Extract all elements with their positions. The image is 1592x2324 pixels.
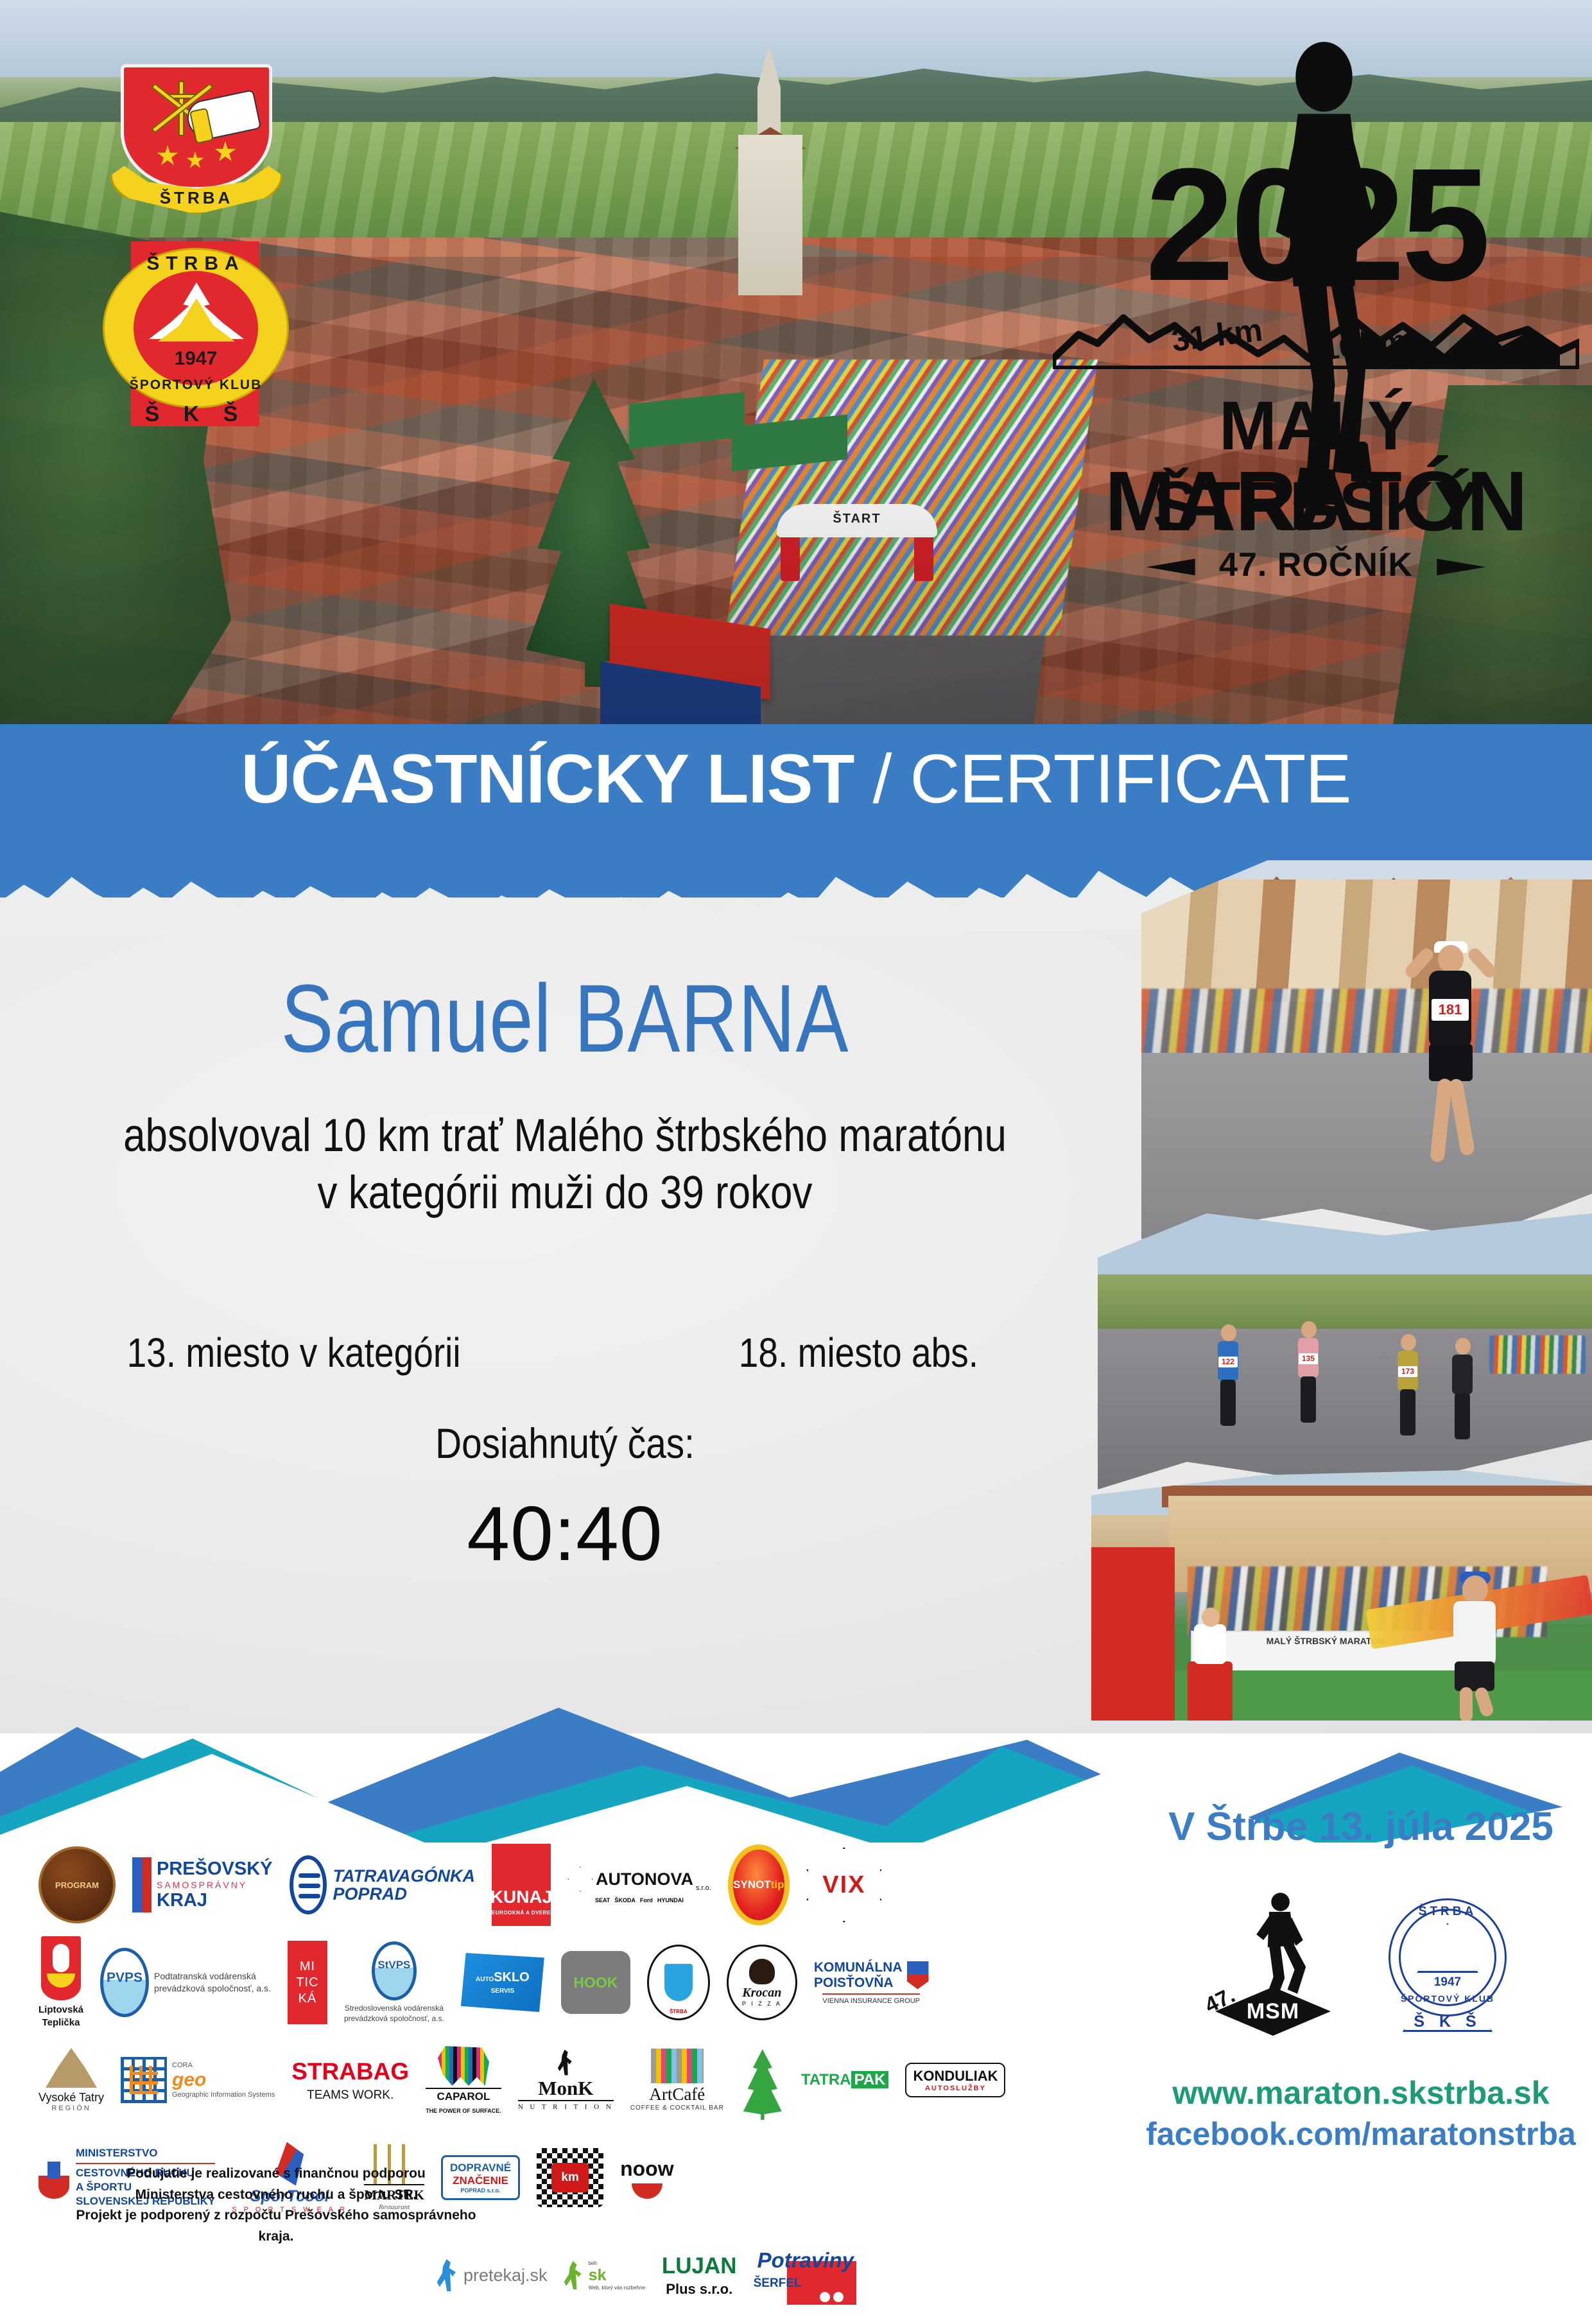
sponsor-row-3: Vysoké Tatry REGIÓN CORAgeo Geographic I… <box>39 2031 1130 2129</box>
sponsor-pd-strba[interactable]: ŠTRBA <box>647 1941 710 2024</box>
sponsor-sublabel: THE POWER OF SURFACE. <box>426 2108 501 2114</box>
sponsor-lujan-plus[interactable]: LUJAN Plus s.r.o. <box>662 2233 737 2317</box>
sponsor-sublabel: SERVIS <box>491 1988 515 1995</box>
event-edition: 47. ROČNÍK <box>1219 546 1413 584</box>
sponsor-kunaj[interactable]: KUNAJ EUROOKNÁ A DVERE <box>492 1843 551 1927</box>
photo-finisher-celebrating: 181 <box>1141 860 1592 1239</box>
sponsor-accent: SKLO <box>494 1970 530 1984</box>
stamp-abbrev: Š K Š <box>1377 2013 1518 2031</box>
stamp-year: 1947 <box>1377 1975 1518 1990</box>
sponsor-sublabel: N U T R I T I O N <box>518 2100 614 2111</box>
time-label: Dosiahnutý čas: <box>79 1419 1051 1468</box>
stamp-top: ŠTRBA <box>1377 1905 1518 1919</box>
sponsor-label: noow <box>620 2157 674 2180</box>
sponsor-label: KONDULIAK <box>913 2068 998 2084</box>
sponsor-liptovska-teplicka[interactable]: Liptovská Teplička <box>39 1941 83 2024</box>
sponsor-label: SYNOT <box>733 1878 771 1891</box>
participant-name: Samuel BARNA <box>101 963 1028 1074</box>
grid-icon <box>121 2057 167 2103</box>
logo-mark: PVPS <box>100 1948 149 2017</box>
bib-number: 181 <box>1432 999 1469 1021</box>
footer-right-column: V Štrbe 13. júla 2025 47. MSM ŠTRBA 194 <box>1136 1804 1586 2153</box>
sponsor-label: PVPS <box>107 1970 143 1986</box>
turkey-icon <box>749 1959 775 1984</box>
sponsor-sublabel: Stredoslovenská vodárenská <box>344 2004 444 2014</box>
sponsor-label: TIC <box>296 1975 318 1991</box>
time-value: 40:40 <box>0 1489 1130 1578</box>
flag-icon <box>907 1961 929 1990</box>
sponsor-label: KOMUNÁLNA <box>814 1960 903 1975</box>
sponsor-sublabel: REGIÓN <box>51 2104 91 2112</box>
stamp-bottom: ŠPORTOVÝ KLUB <box>1377 1993 1518 2004</box>
support-line-3: Projekt je podporený z rozpočtu Prešovsk… <box>58 2205 494 2247</box>
sponsor-sublabel: Geographic Information Systems <box>172 2091 275 2099</box>
sponsor-label: pretekaj.sk <box>463 2266 548 2285</box>
strba-municipal-crest: ŠTRBA <box>110 64 282 225</box>
peak-icon <box>46 2048 97 2088</box>
sponsor-sublabel: AUTOSLUŽBY <box>913 2085 998 2092</box>
facebook-link[interactable]: facebook.com/maratonstrba <box>1136 2115 1586 2153</box>
sponsor-sublabel: prevádzková spoločnosť, a.s. <box>344 2014 444 2024</box>
brand-label: SEAT <box>595 1897 610 1903</box>
sponsor-monk[interactable]: MonK N U T R I T I O N <box>518 2038 614 2122</box>
sponsor-noow[interactable]: noow <box>620 2136 674 2219</box>
sponsor-sublabel: Plus s.r.o. <box>662 2281 737 2298</box>
sponsor-pvps[interactable]: PVPS Podtatranská vodárenská prevádzková… <box>100 1941 271 2024</box>
sponsor-label: STRABAG <box>291 2058 409 2085</box>
sks-club-logo: ŠTRBA 1947 ŠPORTOVÝ KLUB Š K Š <box>103 238 289 430</box>
sponsor-accent: geo <box>172 2069 206 2090</box>
sponsor-label: MI <box>300 1959 315 1975</box>
brand-label: Ford <box>640 1897 653 1903</box>
brand-label: ŠKODA <box>614 1897 636 1903</box>
runner-icon <box>437 2259 458 2291</box>
description-line-1: absolvoval 10 km trať Malého štrbského m… <box>79 1107 1051 1165</box>
support-line-1: Podujatie je realizované s finančnou pod… <box>58 2164 494 2185</box>
website-link[interactable]: www.maraton.skstrba.sk <box>1136 2074 1586 2112</box>
sponsor-label: StVPS <box>377 1959 410 1972</box>
sponsor-sublabel: Podtatranská vodárenská <box>154 1970 271 1982</box>
club-logo-bottom: ŠPORTOVÝ KLUB <box>103 377 289 393</box>
sponsor-label: PREŠOVSKÝ <box>157 1859 273 1880</box>
sponsor-sublabel: VIENNA INSURANCE GROUP <box>822 1993 920 2005</box>
bib-number: 122 <box>1218 1357 1238 1367</box>
sponsor-label: KUNAJ <box>490 1887 552 1907</box>
sponsor-sublabel: POPRAD <box>333 1885 475 1903</box>
sponsor-accent: tip <box>771 1878 784 1891</box>
logo-mark: StVPS <box>372 1941 417 2000</box>
sponsor-stvps[interactable]: StVPS Stredoslovenská vodárenská prevádz… <box>344 1941 444 2024</box>
sponsor-accent: sk <box>589 2266 607 2284</box>
msm-badge: 47. MSM <box>1204 1891 1338 2038</box>
mountain-range-icon <box>1053 292 1579 369</box>
sponsor-sublabel: EUROOKNÁ A DVERE <box>492 1910 551 1916</box>
sponsor-label: VIX <box>822 1871 865 1899</box>
sponsor-sublabel: TEAMS WORK. <box>291 2088 409 2103</box>
place-absolute: 18. miesto abs. <box>625 1329 1092 1376</box>
place-category: 13. miesto v kategórii <box>41 1329 546 1376</box>
club-logo-year: 1947 <box>103 348 289 370</box>
certificate-block: Samuel BARNA absolvoval 10 km trať Maléh… <box>0 963 1130 1222</box>
sponsor-corageo[interactable]: CORAgeo Geographic Information Systems <box>121 2038 275 2122</box>
sponsor-artcafe[interactable]: ArtCafé COFFEE & COCKTAIL BAR <box>630 2038 724 2122</box>
sponsor-label: Teplička <box>42 2017 80 2028</box>
sponsor-label: beh <box>589 2260 645 2266</box>
sponsor-autosklo[interactable]: AUTOSKLO SERVIS <box>461 1941 544 2024</box>
msm-abbrev: MSM <box>1247 1999 1299 2024</box>
sponsor-sublabel: SAMOSPRÁVNY <box>157 1880 273 1890</box>
sponsor-konduliak[interactable]: KONDULIAK AUTOSLUŽBY <box>905 2038 1005 2122</box>
sponsor-label: HOOK <box>573 1974 618 1991</box>
brand-label: HYUNDAI <box>657 1897 684 1903</box>
bib-number: 173 <box>1398 1366 1417 1377</box>
sponsor-caparol[interactable]: CAPAROL THE POWER OF SURFACE. <box>426 2038 501 2122</box>
sponsor-label: MonK <box>538 2077 593 2099</box>
description-line-2: v kategórii muži do 39 rokov <box>79 1165 1051 1222</box>
sponsor-synottip[interactable]: SYNOTtip <box>728 1843 790 1927</box>
sponsor-label: TATRAVAGÓNKA <box>333 1867 475 1885</box>
logo-mark <box>290 1855 327 1914</box>
photo-runners-on-course: 122 135 173 <box>1098 1213 1592 1489</box>
sponsor-vix[interactable]: VIX <box>806 1843 882 1927</box>
sponsor-label: CORA <box>172 2061 275 2069</box>
sponsor-label: Liptovská <box>39 2004 83 2015</box>
sponsor-label: LUJAN <box>662 2253 737 2278</box>
runner-silhouette-icon <box>1241 1891 1311 2000</box>
sponsor-label: MINISTERSTVO <box>76 2146 215 2164</box>
sponsor-miticka[interactable]: MI TIC KÁ <box>288 1941 327 2024</box>
sponsor-komunalna-poistovna[interactable]: KOMUNÁLNAPOISŤOVŇA VIENNA INSURANCE GROU… <box>814 1941 929 2024</box>
sponsor-tatrapak[interactable]: TATRAPAK <box>801 2038 889 2122</box>
support-footnote: Podujatie je realizované s finančnou pod… <box>58 2164 494 2247</box>
sponsor-sublabel: prevádzková spoločnosť, a.s. <box>154 1982 271 1995</box>
title-separator: / <box>854 740 910 817</box>
sponsor-program-trencin[interactable]: PROGRAM <box>39 1843 116 1927</box>
sponsor-label: AUTONOVA <box>596 1869 693 1889</box>
dots-icon <box>820 2292 844 2302</box>
sponsor-label: Vysoké Tatry <box>39 2091 104 2104</box>
sponsor-label: KÁ <box>298 1991 317 2007</box>
flag-icon <box>132 1857 151 1912</box>
runner-pack <box>1489 1335 1586 1374</box>
crest-name: ŠTRBA <box>112 188 281 208</box>
event-logo: 2025 31 km 10 km MALÝ ŠTRBSKÝ MARATÓN 47… <box>1046 35 1586 607</box>
sponsor-row-1: PROGRAM PREŠOVSKÝ SAMOSPRÁVNY KRAJ TATRA… <box>39 1836 1130 1934</box>
shield-icon <box>41 1936 81 2000</box>
sponsor-label: km <box>551 2163 589 2192</box>
smile-icon <box>632 2183 662 2199</box>
sponsor-label: PROGRAM <box>55 1880 99 1890</box>
sponsor-label: AUTO <box>476 1976 494 1983</box>
sponsor-beh-sk[interactable]: behsk Web, ktorý vás rozbehne <box>564 2233 645 2317</box>
sponsor-strabag[interactable]: STRABAG TEAMS WORK. <box>291 2038 409 2122</box>
photo-collage: 181 122 135 173 MALÝ ŠTRBSKÝ MARATÓN <box>1091 854 1592 1721</box>
sponsor-row-2: Liptovská Teplička PVPS Podtatranská vod… <box>39 1934 1130 2031</box>
event-title-line2: MARATÓN <box>1046 453 1586 550</box>
sponsor-vysoke-tatry[interactable]: Vysoké Tatry REGIÓN <box>39 2038 104 2122</box>
club-logo-top: ŠTRBA <box>103 253 289 275</box>
sponsor-krocan-pizza[interactable]: Krocan P I Z Z A <box>727 1941 797 2024</box>
sponsor-hook[interactable]: HOOK <box>561 1941 630 2024</box>
sponsor-label: ArtCafé <box>630 2085 724 2104</box>
sponsor-ps-urbar-strba[interactable]: ŠTRBA <box>741 2038 784 2122</box>
sponsor-label: POISŤOVŇA <box>814 1975 894 1990</box>
sponsor-label: KRAJ <box>157 1890 273 1911</box>
sponsor-tatravagonka[interactable]: TATRAVAGÓNKA POPRAD <box>290 1843 475 1927</box>
water-drop-icon <box>664 1964 693 2001</box>
bib-number: 135 <box>1299 1353 1318 1364</box>
arrow-right-icon <box>1437 559 1485 575</box>
sponsor-sublabel: ŠTRBA <box>670 2009 688 2015</box>
sponsor-sublabel: Web, ktorý vás rozbehne <box>589 2285 645 2291</box>
club-logo-abbrev: Š K Š <box>103 402 289 427</box>
support-line-2: Ministerstva cestovného ruchu a športu S… <box>58 2185 494 2206</box>
page-title: ÚČASTNÍCKY LIST / CERTIFICATE <box>0 738 1592 819</box>
elephant-icon <box>438 2046 489 2086</box>
sponsor-potraviny-serfel[interactable]: Potraviny ŠERFEL <box>754 2233 856 2317</box>
sponsor-label: TATRA <box>801 2071 851 2088</box>
sponsor-sublabel: P I Z Z A <box>742 2000 782 2007</box>
runner-icon <box>557 2050 575 2076</box>
title-secondary: CERTIFICATE <box>910 740 1351 817</box>
bars-icon <box>651 2049 704 2083</box>
sponsor-label: Krocan <box>742 1986 781 2000</box>
sponsor-km-motocentrum[interactable]: km <box>537 2136 603 2219</box>
sponsor-autonova[interactable]: AUTONOVA s.r.o. SEAT ŠKODA Ford HYUNDAI <box>567 1843 711 1927</box>
sponsor-sublabel: ŠERFEL <box>754 2276 802 2291</box>
sponsor-accent: PAK <box>851 2071 889 2088</box>
event-date: V Štrbe 13. júla 2025 <box>1136 1804 1586 1850</box>
sponsor-presovsky-kraj[interactable]: PREŠOVSKÝ SAMOSPRÁVNY KRAJ <box>132 1843 273 1927</box>
title-main: ÚČASTNÍCKY LIST <box>241 740 854 817</box>
sponsor-sublabel: s.r.o. <box>696 1884 711 1892</box>
arrow-left-icon <box>1146 559 1195 575</box>
runner-icon <box>564 2261 584 2289</box>
club-stamp: ŠTRBA 1947 ŠPORTOVÝ KLUB Š K Š <box>1377 1891 1518 2038</box>
tree-icon <box>741 2049 784 2120</box>
sponsor-label: CAPAROL <box>426 2088 501 2103</box>
placement-row: 13. miesto v kategórii 18. miesto abs. <box>0 1329 1130 1376</box>
sponsor-sublabel: COFFEE & COCKTAIL BAR <box>630 2104 724 2112</box>
burst-icon <box>567 1866 593 1892</box>
